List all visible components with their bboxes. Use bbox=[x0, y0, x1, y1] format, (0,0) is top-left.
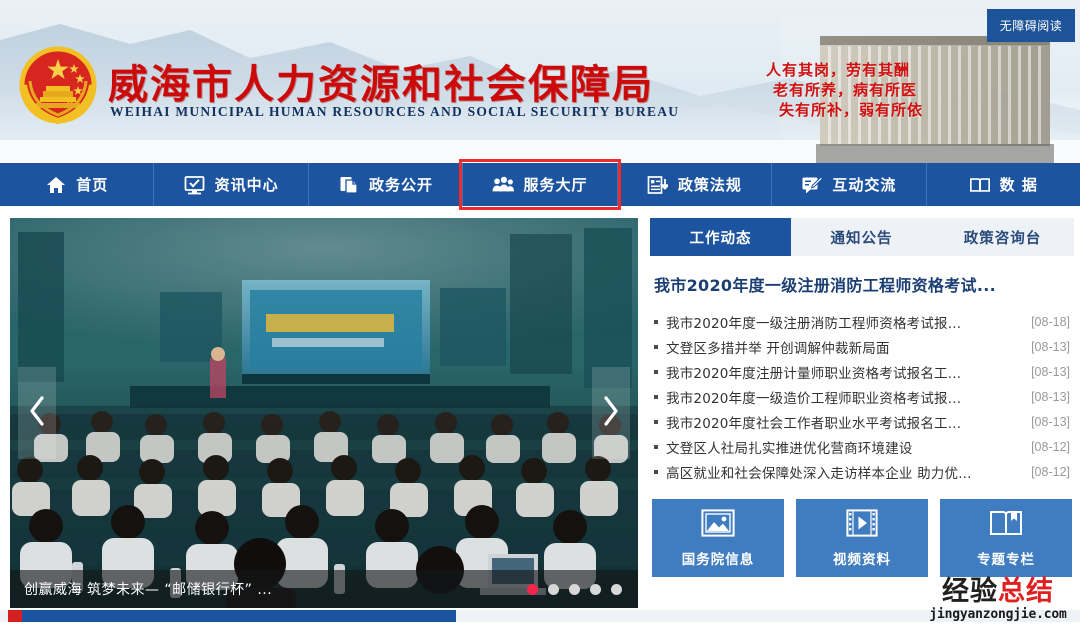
news-item-date: [08-13] bbox=[1031, 365, 1070, 379]
organization-title-english: WEIHAI MUNICIPAL HUMAN RESOURCES AND SOC… bbox=[110, 104, 679, 120]
card-label: 视频资料 bbox=[833, 548, 891, 568]
news-item-title: 文登区人社局扎实推进优化营商环境建设 bbox=[666, 437, 1021, 457]
accessibility-reading-button[interactable]: 无障碍阅读 bbox=[987, 9, 1075, 42]
nav-item-news-center-label: 资讯中心 bbox=[215, 174, 279, 195]
bullet-icon bbox=[654, 470, 658, 474]
card-video-materials[interactable]: 视频资料 bbox=[796, 499, 928, 577]
carousel-photo bbox=[10, 218, 638, 608]
footer-red-accent bbox=[8, 610, 22, 622]
main-content: 创赢威海 筑梦未来— “邮储银行杯” ... 工作动态 通知公告 政策咨询台 我… bbox=[0, 206, 1080, 622]
watermark-char-2: 验 bbox=[970, 576, 998, 607]
people-group-icon bbox=[492, 174, 514, 196]
nav-item-interaction[interactable]: 互动交流 bbox=[772, 163, 926, 206]
news-item-title: 高区就业和社会保障处深入走访样本企业 助力优... bbox=[666, 462, 1021, 482]
card-label: 专题专栏 bbox=[977, 548, 1035, 568]
news-item-title: 我市2020年度注册计量师职业资格考试报名工... bbox=[666, 362, 1021, 382]
news-item-date: [08-13] bbox=[1031, 340, 1070, 354]
hero-carousel[interactable]: 创赢威海 筑梦未来— “邮储银行杯” ... bbox=[10, 218, 638, 608]
organization-title: 威海市人力资源和社会保障局 bbox=[108, 52, 654, 110]
news-item-date: [08-12] bbox=[1031, 440, 1070, 454]
main-navigation: 首页 资讯中心 政务公开 bbox=[0, 163, 1080, 206]
slogan-line-3: 失有所补，弱有所依 bbox=[718, 100, 958, 120]
nav-item-news-center[interactable]: 资讯中心 bbox=[154, 163, 308, 206]
card-state-council-info[interactable]: 国务院信息 bbox=[652, 499, 784, 577]
nav-item-data-label: 数 据 bbox=[1000, 174, 1038, 195]
news-item-title: 我市2020年度社会工作者职业水平考试报名工... bbox=[666, 412, 1021, 432]
news-item-title: 我市2020年度一级注册消防工程师资格考试报... bbox=[666, 312, 1021, 332]
bullet-icon bbox=[654, 445, 658, 449]
home-icon bbox=[45, 174, 67, 196]
news-list-item[interactable]: 文登区人社局扎实推进优化营商环境建设 [08-12] bbox=[654, 434, 1070, 459]
site-header: 威海市人力资源和社会保障局 WEIHAI MUNICIPAL HUMAN RES… bbox=[0, 0, 1080, 163]
picture-icon bbox=[701, 509, 735, 541]
quick-link-cards: 国务院信息 bbox=[650, 499, 1074, 577]
carousel-dot-2[interactable] bbox=[548, 584, 559, 595]
news-item-date: [08-13] bbox=[1031, 390, 1070, 404]
list-download-icon bbox=[647, 174, 669, 196]
documents-icon bbox=[338, 174, 360, 196]
footer-strip bbox=[0, 610, 1080, 622]
nav-item-home[interactable]: 首页 bbox=[0, 163, 154, 206]
video-film-icon bbox=[846, 509, 878, 541]
watermark-char-4: 结 bbox=[1026, 576, 1054, 607]
tab-announcements[interactable]: 通知公告 bbox=[791, 218, 932, 256]
carousel-caption-text[interactable]: 创赢威海 筑梦未来— “邮储银行杯” ... bbox=[10, 579, 272, 599]
header-slogan: 人有其岗，劳有其酬 老有所养，病有所医 失有所补，弱有所依 bbox=[718, 60, 958, 120]
nav-item-government-affairs-label: 政务公开 bbox=[369, 174, 433, 195]
bullet-icon bbox=[654, 395, 658, 399]
watermark-text: 经验总结 bbox=[920, 577, 1076, 607]
carousel-dot-3[interactable] bbox=[569, 584, 580, 595]
news-panel: 工作动态 通知公告 政策咨询台 我市2020年度一级注册消防工程师资格考试...… bbox=[650, 218, 1074, 577]
news-tabs: 工作动态 通知公告 政策咨询台 bbox=[650, 218, 1074, 256]
chevron-left-icon bbox=[27, 395, 47, 431]
carousel-dots bbox=[527, 584, 622, 595]
bullet-icon bbox=[654, 345, 658, 349]
news-list-item[interactable]: 我市2020年度一级造价工程师职业资格考试报... [08-13] bbox=[654, 384, 1070, 409]
chevron-right-icon bbox=[601, 395, 621, 431]
national-emblem-icon bbox=[14, 41, 102, 129]
news-headline[interactable]: 我市2020年度一级注册消防工程师资格考试... bbox=[650, 272, 1074, 296]
carousel-dot-1[interactable] bbox=[527, 584, 538, 595]
slogan-line-2: 老有所养，病有所医 bbox=[718, 80, 958, 100]
nav-item-policies-regulations-label: 政策法规 bbox=[678, 174, 742, 195]
news-item-date: [08-13] bbox=[1031, 415, 1070, 429]
nav-item-policies-regulations[interactable]: 政策法规 bbox=[618, 163, 772, 206]
nav-item-data[interactable]: 数 据 bbox=[927, 163, 1080, 206]
watermark-char-3: 总 bbox=[998, 576, 1026, 607]
news-list-item[interactable]: 我市2020年度社会工作者职业水平考试报名工... [08-13] bbox=[654, 409, 1070, 434]
tab-work-updates[interactable]: 工作动态 bbox=[650, 218, 791, 256]
carousel-dot-4[interactable] bbox=[590, 584, 601, 595]
chat-pencil-icon bbox=[801, 174, 823, 196]
open-book-icon bbox=[989, 509, 1023, 541]
bullet-icon bbox=[654, 320, 658, 324]
slogan-line-1: 人有其岗，劳有其酬 bbox=[718, 60, 958, 80]
nav-item-home-label: 首页 bbox=[76, 174, 108, 195]
monitor-check-icon bbox=[184, 174, 206, 196]
news-list-item[interactable]: 我市2020年度注册计量师职业资格考试报名工... [08-13] bbox=[654, 359, 1070, 384]
nav-item-interaction-label: 互动交流 bbox=[832, 174, 896, 195]
open-book-icon bbox=[969, 174, 991, 196]
page-root: 威海市人力资源和社会保障局 WEIHAI MUNICIPAL HUMAN RES… bbox=[0, 0, 1080, 644]
card-special-topics[interactable]: 专题专栏 bbox=[940, 499, 1072, 577]
bullet-icon bbox=[654, 370, 658, 374]
carousel-prev-button[interactable] bbox=[18, 367, 56, 459]
card-label: 国务院信息 bbox=[682, 548, 755, 568]
nav-item-government-affairs[interactable]: 政务公开 bbox=[309, 163, 463, 206]
footer-blue-bar bbox=[8, 610, 456, 622]
news-list: 我市2020年度一级注册消防工程师资格考试报... [08-18] 文登区多措并… bbox=[650, 309, 1074, 484]
watermark-char-1: 经 bbox=[942, 576, 970, 607]
news-item-date: [08-18] bbox=[1031, 315, 1070, 329]
news-list-item[interactable]: 文登区多措并举 开创调解仲裁新局面 [08-13] bbox=[654, 334, 1070, 359]
bullet-icon bbox=[654, 420, 658, 424]
nav-item-service-hall-label: 服务大厅 bbox=[523, 174, 587, 195]
news-item-date: [08-12] bbox=[1031, 465, 1070, 479]
carousel-next-button[interactable] bbox=[592, 367, 630, 459]
news-list-item[interactable]: 我市2020年度一级注册消防工程师资格考试报... [08-18] bbox=[654, 309, 1070, 334]
news-list-item[interactable]: 高区就业和社会保障处深入走访样本企业 助力优... [08-12] bbox=[654, 459, 1070, 484]
tab-policy-consultation[interactable]: 政策咨询台 bbox=[932, 218, 1073, 256]
carousel-dot-5[interactable] bbox=[611, 584, 622, 595]
nav-item-service-hall[interactable]: 服务大厅 bbox=[463, 163, 617, 206]
news-item-title: 文登区多措并举 开创调解仲裁新局面 bbox=[666, 337, 1021, 357]
news-item-title: 我市2020年度一级造价工程师职业资格考试报... bbox=[666, 387, 1021, 407]
